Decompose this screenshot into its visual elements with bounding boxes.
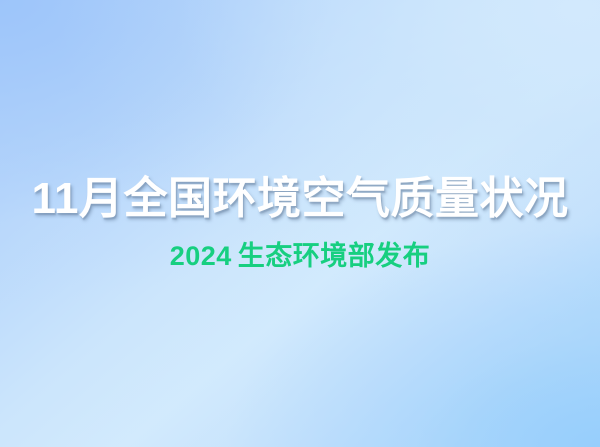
poster-content: 11月全国环境空气质量状况 2024生态环境部发布: [0, 0, 600, 447]
poster-banner: 11月全国环境空气质量状况 2024生态环境部发布: [0, 0, 600, 447]
poster-subtitle: 2024生态环境部发布: [170, 243, 431, 270]
subtitle-publisher: 生态环境部发布: [238, 241, 431, 271]
subtitle-year: 2024: [170, 241, 232, 271]
page-title: 11月全国环境空气质量状况: [31, 177, 568, 221]
